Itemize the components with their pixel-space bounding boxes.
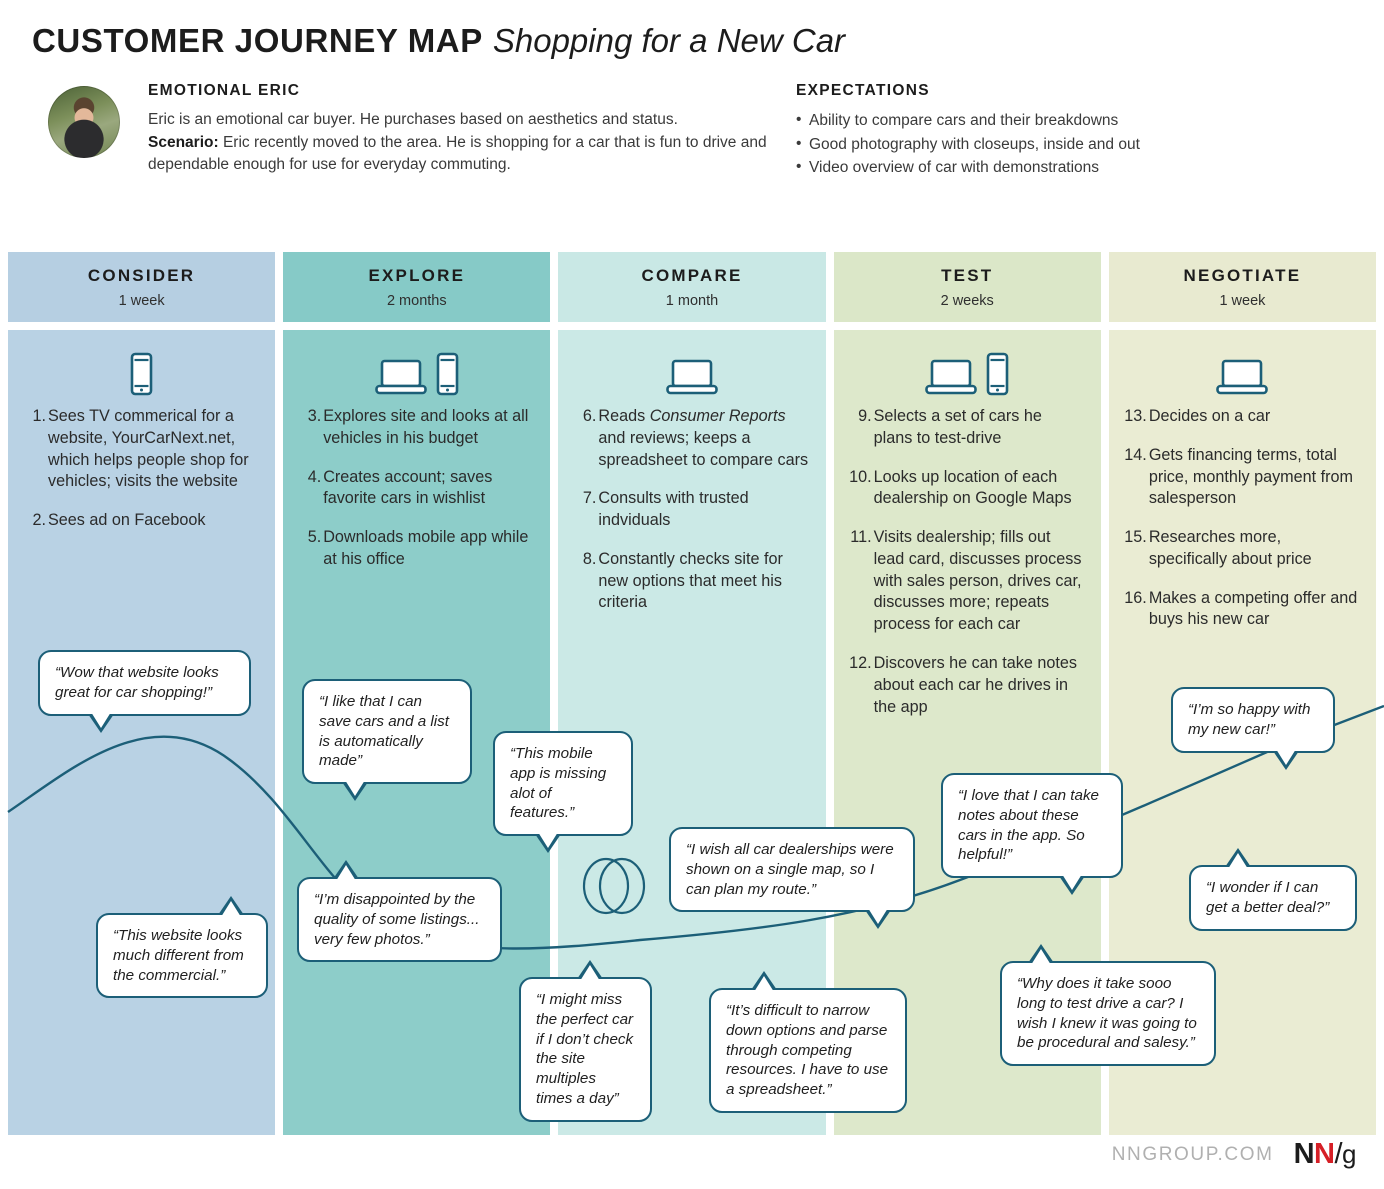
step-text: Reads	[598, 407, 649, 425]
step-number: 11.	[848, 527, 872, 549]
laptop-icon	[925, 358, 977, 396]
step-list: 9.Selects a set of cars he plans to test…	[834, 406, 1101, 718]
step-list: 1.Sees TV commerical for a website, Your…	[8, 406, 275, 532]
step-text: Selects a set of cars he plans to test-d…	[874, 407, 1042, 447]
phone-icon	[436, 352, 459, 396]
step-item: 4.Creates account; saves favorite cars i…	[297, 467, 534, 511]
step-text: Discovers he can take notes about each c…	[874, 654, 1077, 716]
expectation-item: Video overview of car with demonstration…	[796, 156, 1226, 180]
stage-header-test[interactable]: TEST2 weeks	[834, 252, 1101, 322]
laptop-icon	[666, 358, 718, 396]
stage-duration: 1 week	[1219, 293, 1265, 309]
stage-header-negotiate[interactable]: NEGOTIATE1 week	[1109, 252, 1376, 322]
quote-text: “It’s difficult to narrow down options a…	[726, 1002, 888, 1098]
step-number: 13.	[1123, 406, 1147, 428]
step-number: 14.	[1123, 445, 1147, 467]
quote-text: “Wow that website looks great for car sh…	[55, 664, 219, 701]
quote-bubble-7: “I wish all car dealerships were shown o…	[669, 827, 915, 912]
step-number: 4.	[297, 467, 321, 489]
step-text-cont: and reviews; keeps a spreadsheet to comp…	[598, 429, 808, 469]
step-text: Decides on a car	[1149, 407, 1270, 425]
expectations-block: EXPECTATIONS Ability to compare cars and…	[796, 82, 1226, 180]
persona-and-expectations: EMOTIONAL ERIC Eric is an emotional car …	[0, 60, 1384, 180]
quote-text: “This website looks much different from …	[113, 927, 244, 984]
stage-name: COMPARE	[641, 266, 742, 286]
logo-letter-n1: N	[1294, 1138, 1314, 1171]
bubble-tail-inner-icon	[538, 832, 558, 848]
quote-bubble-6: “I might miss the perfect car if I don’t…	[519, 977, 652, 1122]
stage-header-consider[interactable]: CONSIDER1 week	[8, 252, 275, 322]
step-item: 7.Consults with trusted indviduals	[572, 488, 809, 532]
quote-text: “I love that I can take notes about thes…	[958, 787, 1099, 863]
step-number: 2.	[22, 510, 46, 532]
step-number: 15.	[1123, 527, 1147, 549]
step-item: 11.Visits dealership; fills out lead car…	[848, 527, 1085, 636]
quote-bubble-8: “It’s difficult to narrow down options a…	[709, 988, 907, 1113]
footer-url: NNGROUP.COM	[1112, 1144, 1274, 1166]
expectations-heading: EXPECTATIONS	[796, 82, 1226, 100]
bubble-tail-inner-icon	[91, 712, 111, 728]
device-icons	[558, 344, 825, 396]
quote-text: “I wish all car dealerships were shown o…	[686, 841, 894, 898]
device-icons	[834, 344, 1101, 396]
step-item: 14.Gets financing terms, total price, mo…	[1123, 445, 1360, 510]
expectation-item: Ability to compare cars and their breakd…	[796, 109, 1226, 133]
device-icons	[1109, 344, 1376, 396]
logo-letter-n2: N	[1314, 1138, 1334, 1171]
step-item: 2.Sees ad on Facebook	[22, 510, 259, 532]
stage-name: NEGOTIATE	[1184, 266, 1302, 286]
phone-icon	[130, 352, 153, 396]
bubble-tail-inner-icon	[336, 865, 356, 881]
stage-name: EXPLORE	[368, 266, 465, 286]
step-text: Gets financing terms, total price, month…	[1149, 446, 1353, 508]
footer: NNGROUP.COM NN/g	[1112, 1138, 1356, 1171]
persona-block: EMOTIONAL ERIC Eric is an emotional car …	[148, 82, 768, 177]
step-number: 6.	[572, 406, 596, 428]
stage-header-row: CONSIDER1 weekEXPLORE2 monthsCOMPARE1 mo…	[0, 252, 1384, 322]
step-item: 3.Explores site and looks at all vehicle…	[297, 406, 534, 450]
stage-duration: 1 month	[666, 293, 718, 309]
device-icons	[283, 344, 550, 396]
step-number: 9.	[848, 406, 872, 428]
quote-text: “I’m disappointed by the quality of some…	[314, 891, 479, 948]
step-text: Explores site and looks at all vehicles …	[323, 407, 528, 447]
step-item: 13.Decides on a car	[1123, 406, 1360, 428]
step-number: 16.	[1123, 588, 1147, 610]
stage-body-consider: 1.Sees TV commerical for a website, Your…	[8, 330, 275, 1135]
step-item: 6.Reads Consumer Reports and reviews; ke…	[572, 406, 809, 471]
quote-bubble-10: “Why does it take sooo long to test driv…	[1000, 961, 1216, 1066]
step-item: 12.Discovers he can take notes about eac…	[848, 653, 1085, 718]
step-item: 5.Downloads mobile app while at his offi…	[297, 527, 534, 571]
expectation-item: Good photography with closeups, inside a…	[796, 133, 1226, 157]
stage-name: CONSIDER	[88, 266, 195, 286]
bubble-tail-inner-icon	[1276, 749, 1296, 765]
step-text: Makes a competing offer and buys his new…	[1149, 589, 1357, 629]
step-text: Constantly checks site for new options t…	[598, 550, 782, 612]
step-text: Researches more, specifically about pric…	[1149, 528, 1312, 568]
step-item: 9.Selects a set of cars he plans to test…	[848, 406, 1085, 450]
stage-header-explore[interactable]: EXPLORE2 months	[283, 252, 550, 322]
step-item: 8.Constantly checks site for new options…	[572, 549, 809, 614]
stage-duration: 2 months	[387, 293, 447, 309]
avatar	[48, 86, 120, 158]
step-item: 10.Looks up location of each dealership …	[848, 467, 1085, 511]
step-list: 3.Explores site and looks at all vehicle…	[283, 406, 550, 571]
step-text: Consults with trusted indviduals	[598, 489, 748, 529]
step-text: Sees TV commerical for a website, YourCa…	[48, 407, 249, 490]
expectations-list: Ability to compare cars and their breakd…	[796, 109, 1226, 180]
laptop-icon	[1216, 358, 1268, 396]
quote-bubble-4: “I’m disappointed by the quality of some…	[297, 877, 502, 962]
step-number: 7.	[572, 488, 596, 510]
quote-text: “This mobile app is missing alot of feat…	[510, 745, 606, 821]
page-title: CUSTOMER JOURNEY MAPShopping for a New C…	[0, 0, 1384, 60]
phone-icon	[986, 352, 1009, 396]
step-text: Sees ad on Facebook	[48, 511, 206, 529]
bubble-tail-inner-icon	[221, 901, 241, 917]
quote-bubble-5: “This mobile app is missing alot of feat…	[493, 731, 633, 836]
step-text: Downloads mobile app while at his office	[323, 528, 528, 568]
step-number: 1.	[22, 406, 46, 428]
step-item: 1.Sees TV commerical for a website, Your…	[22, 406, 259, 493]
bubble-tail-inner-icon	[580, 965, 600, 981]
persona-description: Eric is an emotional car buyer. He purch…	[148, 109, 768, 177]
quote-text: “I’m so happy with my new car!”	[1188, 701, 1310, 738]
quote-bubble-11: “I’m so happy with my new car!”	[1171, 687, 1335, 753]
stage-duration: 2 weeks	[941, 293, 994, 309]
logo-letter-g: g	[1342, 1139, 1356, 1170]
bubble-tail-inner-icon	[1228, 853, 1248, 869]
bubble-tail-inner-icon	[345, 780, 365, 796]
persona-scenario-text: Eric recently moved to the area. He is s…	[148, 134, 767, 174]
step-number: 8.	[572, 549, 596, 571]
step-number: 5.	[297, 527, 321, 549]
laptop-icon	[375, 358, 427, 396]
step-list: 6.Reads Consumer Reports and reviews; ke…	[558, 406, 825, 614]
quote-bubble-3: “I like that I can save cars and a list …	[302, 679, 472, 784]
step-number: 3.	[297, 406, 321, 428]
quote-bubble-2: “This website looks much different from …	[96, 913, 268, 998]
title-subtitle: Shopping for a New Car	[493, 22, 845, 59]
step-text-italic: Consumer Reports	[650, 407, 786, 425]
step-text: Looks up location of each dealership on …	[874, 468, 1072, 508]
bubble-tail-inner-icon	[1062, 874, 1082, 890]
step-list: 13.Decides on a car14.Gets financing ter…	[1109, 406, 1376, 631]
stage-header-compare[interactable]: COMPARE1 month	[558, 252, 825, 322]
quote-text: “I like that I can save cars and a list …	[319, 693, 449, 769]
step-text: Visits dealership; fills out lead card, …	[874, 528, 1082, 633]
persona-heading: EMOTIONAL ERIC	[148, 82, 768, 100]
bubble-tail-inner-icon	[754, 976, 774, 992]
step-number: 10.	[848, 467, 872, 489]
step-number: 12.	[848, 653, 872, 675]
persona-scenario-label: Scenario:	[148, 134, 219, 151]
step-item: 15.Researches more, specifically about p…	[1123, 527, 1360, 571]
persona-description-text: Eric is an emotional car buyer. He purch…	[148, 111, 678, 128]
title-main: CUSTOMER JOURNEY MAP	[32, 22, 483, 59]
step-text: Creates account; saves favorite cars in …	[323, 468, 492, 508]
stage-duration: 1 week	[119, 293, 165, 309]
stage-name: TEST	[941, 266, 993, 286]
quote-text: “Why does it take sooo long to test driv…	[1017, 975, 1197, 1051]
step-item: 16.Makes a competing offer and buys his …	[1123, 588, 1360, 632]
device-icons	[8, 344, 275, 396]
quote-text: “I might miss the perfect car if I don’t…	[536, 991, 633, 1107]
quote-bubble-12: “I wonder if I can get a better deal?”	[1189, 865, 1357, 931]
nng-logo: NN/g	[1294, 1138, 1356, 1171]
quote-bubble-9: “I love that I can take notes about thes…	[941, 773, 1123, 878]
bubble-tail-inner-icon	[868, 908, 888, 924]
quote-text: “I wonder if I can get a better deal?”	[1206, 879, 1329, 916]
logo-slash: /	[1334, 1138, 1342, 1171]
quote-bubble-1: “Wow that website looks great for car sh…	[38, 650, 251, 716]
bubble-tail-inner-icon	[1031, 949, 1051, 965]
